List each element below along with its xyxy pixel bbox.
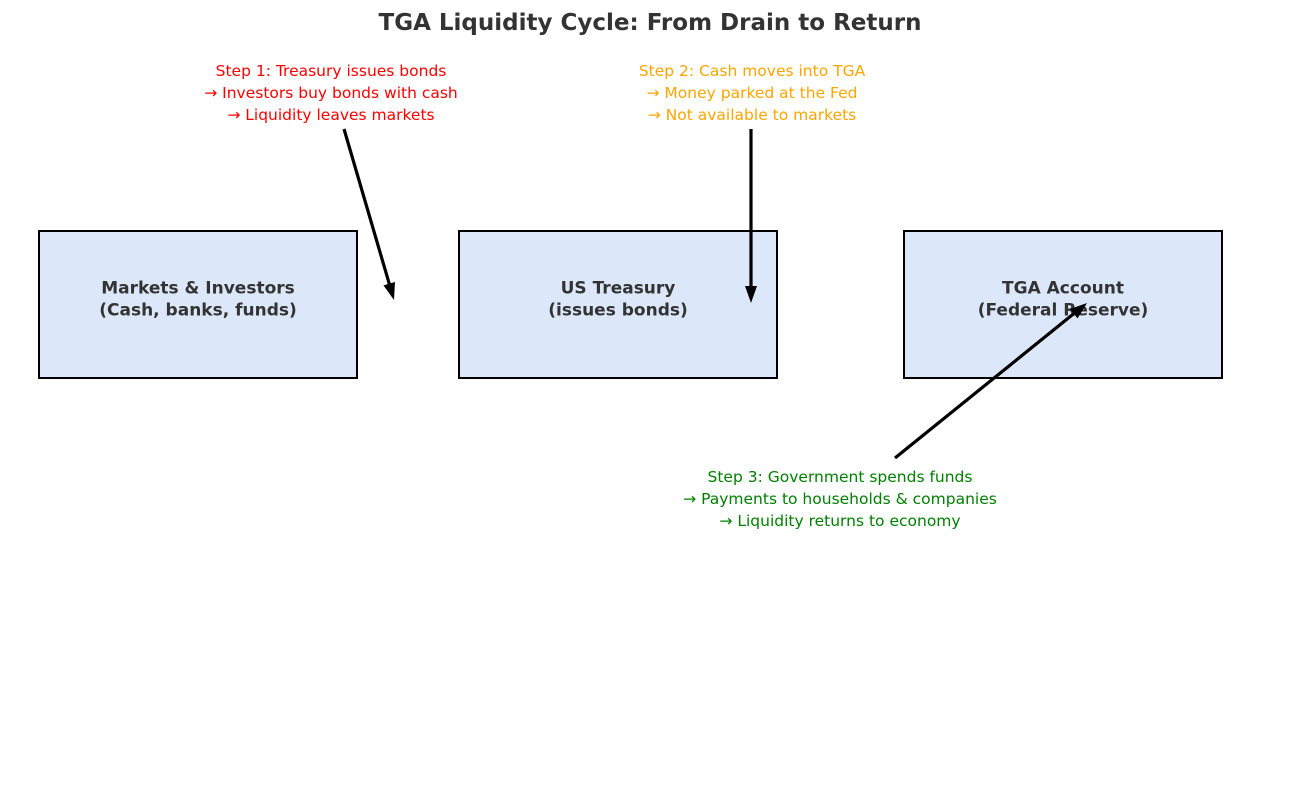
annotation-step-2: Step 2: Cash moves into TGA → Money park… — [552, 60, 952, 126]
node-label-us-treasury: US Treasury (issues bonds) — [460, 277, 776, 321]
arrow-bonds-to-markets-head — [383, 282, 395, 300]
node-label-tga-account: TGA Account (Federal Reserve) — [905, 277, 1221, 321]
page-title: TGA Liquidity Cycle: From Drain to Retur… — [0, 10, 1300, 36]
node-box-us-treasury[interactable]: US Treasury (issues bonds) — [458, 230, 778, 379]
node-label-markets-investors: Markets & Investors (Cash, banks, funds) — [40, 277, 356, 321]
diagram-canvas: TGA Liquidity Cycle: From Drain to Retur… — [0, 0, 1300, 798]
annotation-step-1: Step 1: Treasury issues bonds → Investor… — [131, 60, 531, 126]
annotation-step-3: Step 3: Government spends funds → Paymen… — [600, 466, 1080, 532]
node-box-tga-account[interactable]: TGA Account (Federal Reserve) — [903, 230, 1223, 379]
node-box-markets-investors[interactable]: Markets & Investors (Cash, banks, funds) — [38, 230, 358, 379]
